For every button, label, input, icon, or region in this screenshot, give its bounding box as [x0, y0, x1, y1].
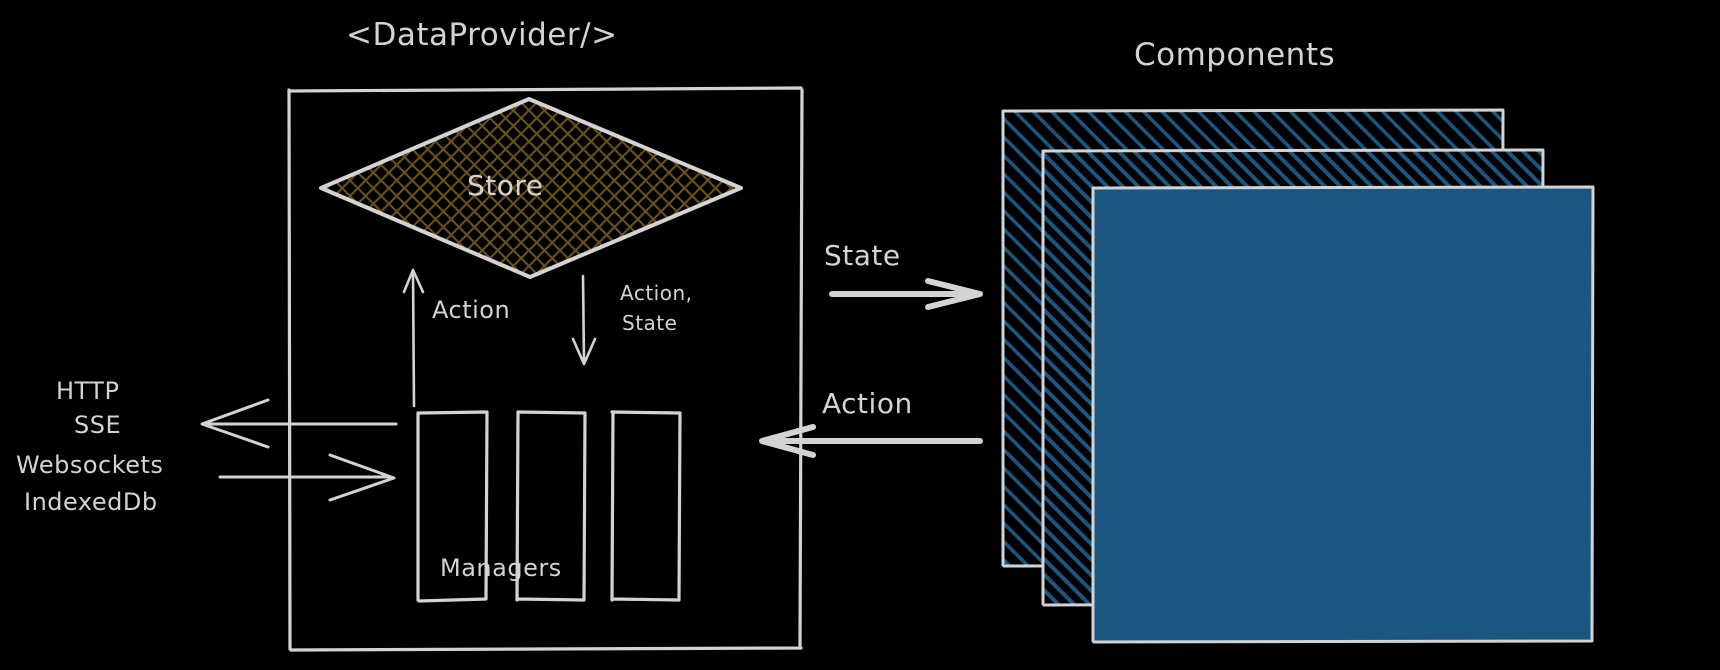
diagram-canvas: <DataProvider/> Components Store Action …	[0, 0, 1720, 670]
arrow-transport-out	[202, 400, 396, 447]
transport-label-sse: SSE	[74, 412, 121, 440]
arrow-action-left	[762, 427, 980, 455]
components-title: Components	[1134, 38, 1335, 74]
edge-label-action-state-down-line2: State	[622, 312, 677, 335]
arrow-state-right	[832, 281, 980, 307]
shape-layer	[0, 0, 1720, 670]
store-label: Store	[467, 170, 544, 202]
edge-label-action: Action	[822, 388, 913, 420]
component-card-front	[1093, 187, 1593, 642]
edge-label-state: State	[824, 240, 901, 272]
arrow-transport-in	[220, 455, 394, 500]
component-card-middle	[1043, 150, 1543, 605]
arrow-action-up	[404, 270, 423, 406]
edge-label-action-state-down-line1: Action,	[620, 282, 693, 305]
arrow-action-state-down	[573, 276, 595, 364]
transport-label-indexeddb: IndexedDb	[24, 489, 158, 517]
managers-label: Managers	[440, 555, 562, 583]
component-card-back	[1003, 110, 1503, 566]
edge-label-action-up: Action	[432, 297, 510, 325]
transport-label-http: HTTP	[56, 378, 119, 406]
data-provider-title: <DataProvider/>	[346, 18, 618, 54]
manager-box-3	[612, 412, 680, 600]
transport-label-websockets: Websockets	[16, 452, 163, 480]
